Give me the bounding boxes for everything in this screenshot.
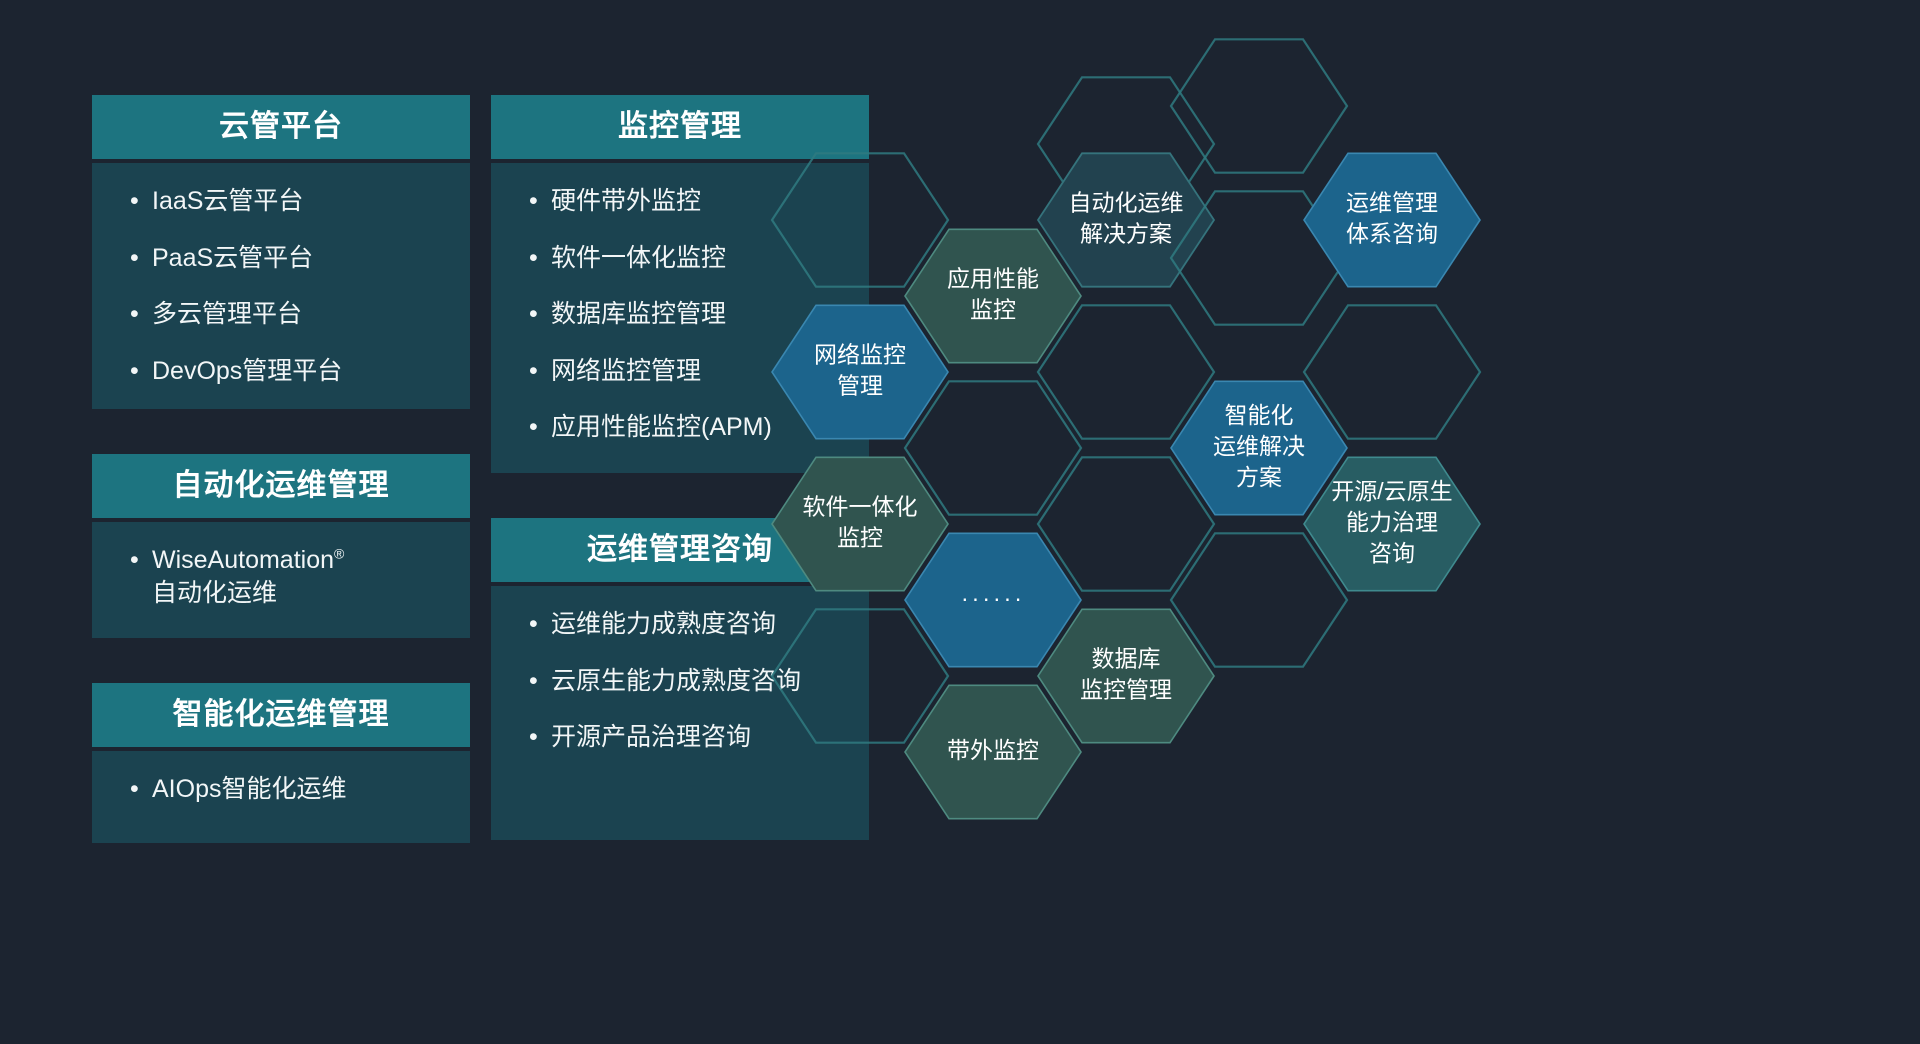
list-item: AIOps智能化运维 [130, 773, 454, 806]
hex-ops-consulting[interactable]: 运维管理体系咨询 [1304, 153, 1480, 286]
card-title-cloud-platform: 云管平台 [92, 95, 470, 159]
hex-aiops-solution-label: 运维解决 [1213, 433, 1305, 459]
card-body-aiops: AIOps智能化运维 [92, 751, 470, 843]
hex-database-monitor[interactable]: 数据库监控管理 [1038, 609, 1214, 742]
card-column-left: 云管平台 IaaS云管平台 PaaS云管平台 多云管理平台 DevOps管理平台… [92, 95, 470, 843]
hex-database-monitor-label: 数据库 [1092, 646, 1161, 672]
hex-software-monitor-label: 软件一体化 [803, 494, 918, 520]
hex-aiops-solution-label: 方案 [1236, 464, 1282, 490]
hexagon-grid-svg: 网络监控管理软件一体化监控应用性能监控······带外监控自动化运维解决方案数据… [760, 0, 1920, 1044]
list-item-main: WiseAutomation [152, 546, 334, 574]
hex-empty-5 [1038, 305, 1214, 438]
hex-empty-1-shape [772, 153, 948, 286]
hex-empty-6-shape [1038, 457, 1214, 590]
hex-empty-9-shape [1171, 533, 1347, 666]
card-body-automation-ops: WiseAutomation®自动化运维 [92, 522, 470, 638]
hex-opensource-consulting-label: 能力治理 [1346, 509, 1438, 535]
hex-empty-7-shape [1171, 39, 1347, 172]
hex-automation-solution[interactable]: 自动化运维解决方案 [1038, 153, 1214, 286]
hex-network-monitor-label: 网络监控 [814, 342, 906, 368]
list-item: 多云管理平台 [130, 298, 454, 331]
list-item-second-line: 自动化运维 [152, 579, 277, 607]
card-title-aiops: 智能化运维管理 [92, 683, 470, 747]
hex-empty-10-shape [1304, 305, 1480, 438]
list-item: DevOps管理平台 [130, 355, 454, 388]
slide-canvas: 云管平台 IaaS云管平台 PaaS云管平台 多云管理平台 DevOps管理平台… [0, 0, 1920, 1044]
card-aiops[interactable]: 智能化运维管理 AIOps智能化运维 [92, 683, 470, 843]
hex-software-monitor[interactable]: 软件一体化监控 [772, 457, 948, 590]
hex-ops-consulting-label: 运维管理 [1346, 190, 1438, 216]
hex-opensource-consulting-label: 咨询 [1369, 540, 1415, 566]
hex-empty-6 [1038, 457, 1214, 590]
hex-empty-7 [1171, 39, 1347, 172]
hex-empty-9 [1171, 533, 1347, 666]
hex-oob-monitor[interactable]: 带外监控 [905, 685, 1081, 818]
card-cloud-platform[interactable]: 云管平台 IaaS云管平台 PaaS云管平台 多云管理平台 DevOps管理平台 [92, 95, 470, 409]
hex-empty-2 [772, 609, 948, 742]
hex-network-monitor[interactable]: 网络监控管理 [772, 305, 948, 438]
hexagon-grid: 网络监控管理软件一体化监控应用性能监控······带外监控自动化运维解决方案数据… [760, 0, 1920, 1044]
hex-network-monitor-label: 管理 [837, 373, 883, 399]
hex-apm[interactable]: 应用性能监控 [905, 229, 1081, 362]
hex-empty-2-shape [772, 609, 948, 742]
hex-oob-monitor-label: 带外监控 [947, 737, 1039, 763]
card-title-automation-ops: 自动化运维管理 [92, 454, 470, 518]
hex-apm-label: 监控 [970, 297, 1016, 323]
registered-trademark-icon: ® [334, 546, 344, 562]
hex-automation-solution-label: 解决方案 [1080, 221, 1172, 247]
hex-empty-10 [1304, 305, 1480, 438]
hex-empty-1 [772, 153, 948, 286]
card-body-cloud-platform: IaaS云管平台 PaaS云管平台 多云管理平台 DevOps管理平台 [92, 163, 470, 409]
hex-aiops-solution[interactable]: 智能化运维解决方案 [1171, 381, 1347, 514]
list-item: IaaS云管平台 [130, 185, 454, 218]
list-item: WiseAutomation®自动化运维 [130, 544, 454, 609]
hex-ops-consulting-label: 体系咨询 [1346, 221, 1438, 247]
hex-empty-5-shape [1038, 305, 1214, 438]
hex-apm-label: 应用性能 [947, 266, 1039, 292]
card-automation-ops[interactable]: 自动化运维管理 WiseAutomation®自动化运维 [92, 454, 470, 638]
hex-opensource-consulting-label: 开源/云原生 [1331, 478, 1452, 504]
hex-ellipsis[interactable]: ······ [905, 533, 1081, 666]
hex-aiops-solution-label: 智能化 [1225, 402, 1294, 428]
hex-database-monitor-label: 监控管理 [1080, 677, 1172, 703]
hex-opensource-consulting[interactable]: 开源/云原生能力治理咨询 [1304, 457, 1480, 590]
hex-automation-solution-label: 自动化运维 [1069, 190, 1184, 216]
list-item: PaaS云管平台 [130, 242, 454, 275]
hex-software-monitor-label: 监控 [837, 525, 883, 551]
hex-empty-3 [905, 381, 1081, 514]
hex-empty-3-shape [905, 381, 1081, 514]
hex-ellipsis-label: ······ [961, 585, 1025, 611]
